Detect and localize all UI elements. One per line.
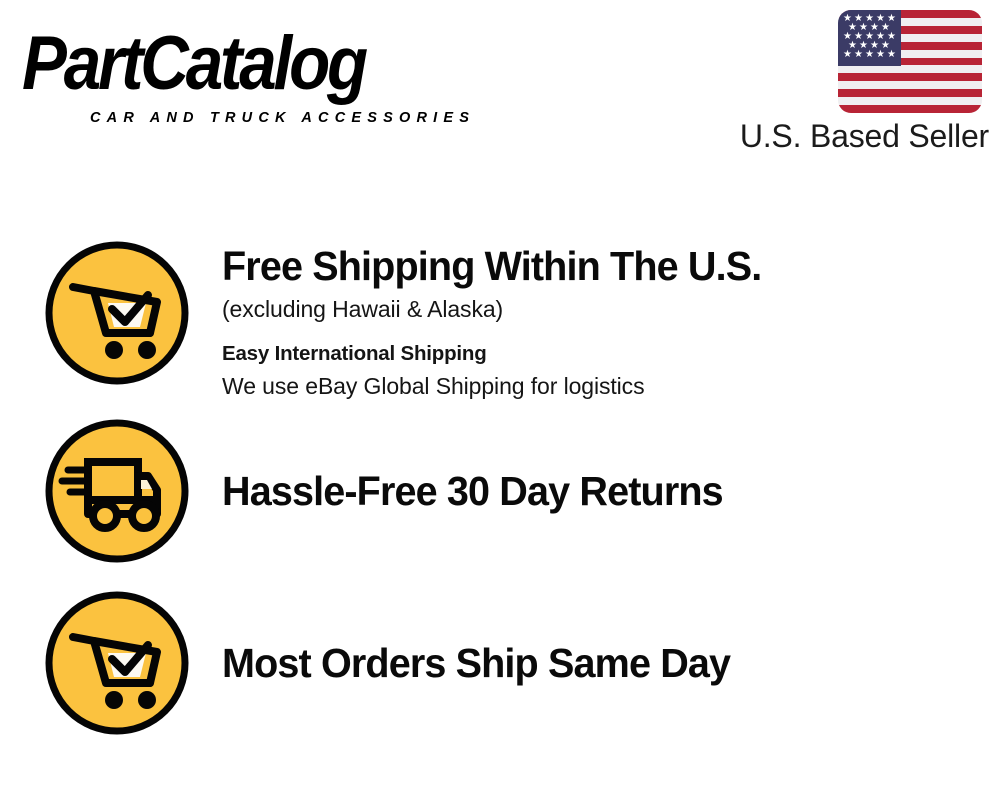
benefit-headline: Most Orders Ship Same Day: [222, 638, 965, 688]
benefit-headline: Hassle-Free 30 Day Returns: [222, 466, 965, 516]
benefit-headline: Free Shipping Within The U.S.: [222, 241, 965, 291]
page-header: PartCatalog CAR AND TRUCK ACCESSORIES ★ …: [0, 0, 1000, 170]
benefit-row: Free Shipping Within The U.S. (excluding…: [0, 240, 1000, 400]
benefit-row: Most Orders Ship Same Day: [0, 590, 1000, 740]
brand-tagline: CAR AND TRUCK ACCESSORIES: [90, 110, 475, 126]
benefit-text-group: Free Shipping Within The U.S. (excluding…: [222, 240, 992, 403]
flag-canton: ★ ★ ★ ★ ★ ★ ★ ★ ★ ★ ★ ★ ★ ★ ★ ★ ★ ★ ★ ★ …: [838, 10, 901, 66]
benefit-sub-detail: We use eBay Global Shipping for logistic…: [222, 370, 992, 403]
flag-stripe: [838, 65, 982, 73]
flag-stripe: [838, 73, 982, 81]
brand-wordmark: PartCatalog: [22, 22, 365, 105]
benefit-row: Hassle-Free 30 Day Returns: [0, 418, 1000, 573]
flag-stripe: [838, 81, 982, 89]
delivery-truck-icon: [44, 418, 190, 564]
shopping-cart-check-icon: [44, 240, 190, 386]
flag-stripe: [838, 89, 982, 97]
brand-logo[interactable]: PartCatalog CAR AND TRUCK ACCESSORIES: [22, 22, 492, 117]
flag-stripe: [838, 97, 982, 105]
benefit-subline: (excluding Hawaii & Alaska): [222, 293, 992, 326]
benefit-text-group: Hassle-Free 30 Day Returns: [222, 418, 992, 516]
shopping-cart-check-icon: [44, 590, 190, 736]
benefit-text-group: Most Orders Ship Same Day: [222, 590, 992, 688]
flag-stripe: [838, 105, 982, 113]
us-based-seller-label: U.S. Based Seller: [727, 117, 989, 155]
benefit-sub-heading: Easy International Shipping: [222, 338, 992, 370]
us-flag-icon: ★ ★ ★ ★ ★ ★ ★ ★ ★ ★ ★ ★ ★ ★ ★ ★ ★ ★ ★ ★ …: [838, 10, 982, 113]
